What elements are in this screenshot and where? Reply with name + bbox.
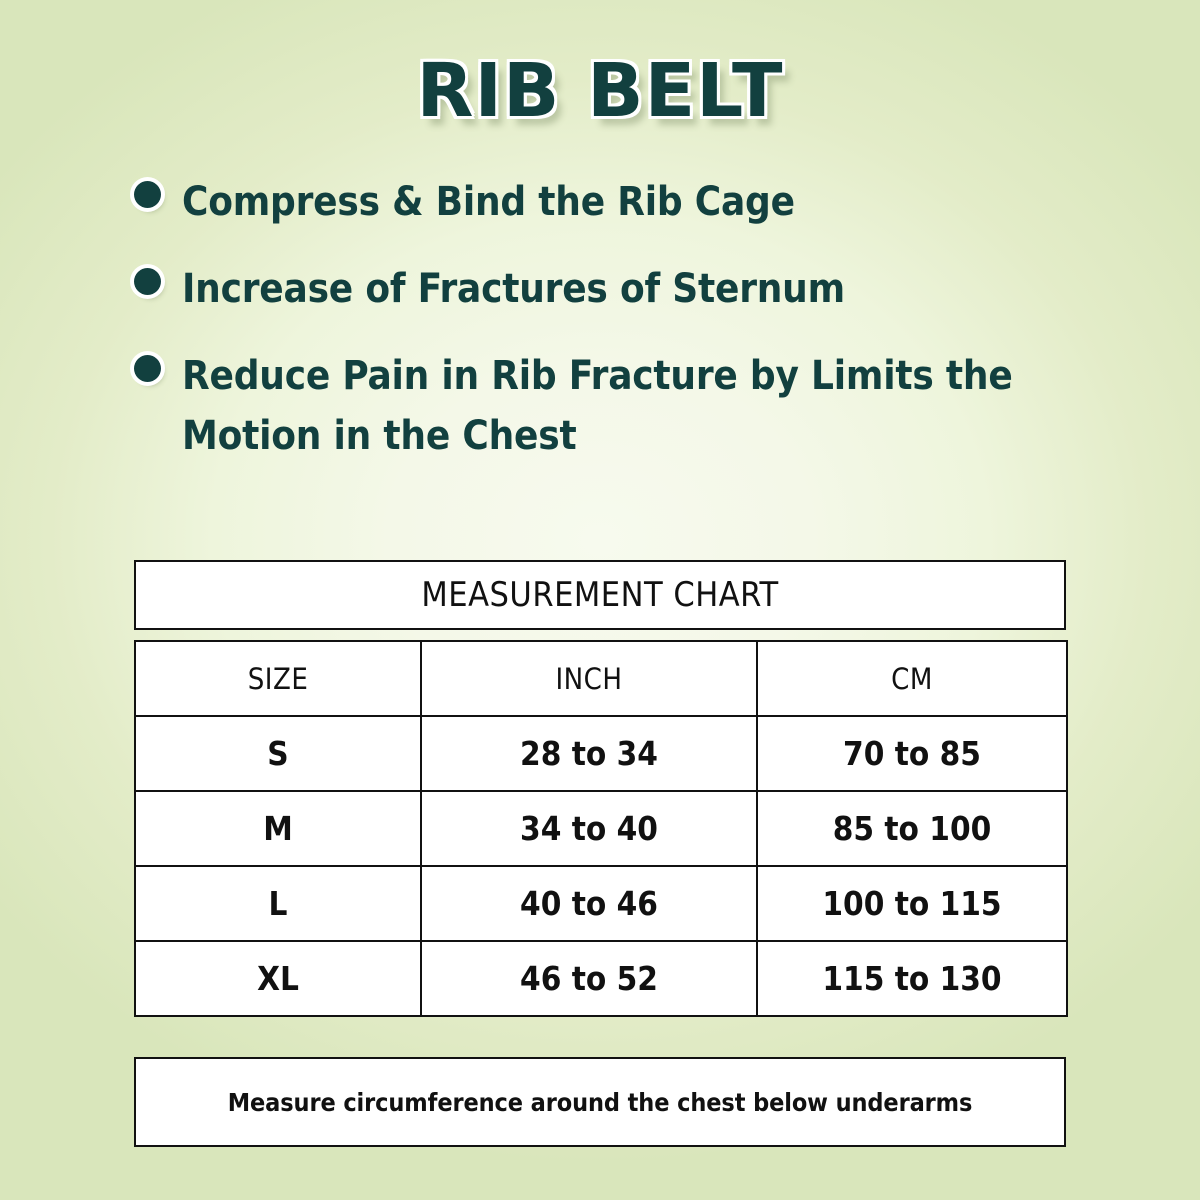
table-row: M 34 to 40 85 to 100 [135, 791, 1067, 866]
table-row: L 40 to 46 100 to 115 [135, 866, 1067, 941]
circle-bullet-icon [134, 268, 161, 295]
list-item: Compress & Bind the Rib Cage [134, 172, 1034, 233]
feature-text: Increase of Fractures of Sternum [182, 259, 845, 320]
measurement-note-text: Measure circumference around the chest b… [228, 1088, 973, 1117]
cell-size: S [135, 716, 421, 791]
table-row: S 28 to 34 70 to 85 [135, 716, 1067, 791]
product-info-card: RIB BELT Compress & Bind the Rib Cage In… [0, 0, 1200, 1200]
cell-size: M [135, 791, 421, 866]
feature-text: Reduce Pain in Rib Fracture by Limits th… [182, 346, 1034, 468]
cell-size: XL [135, 941, 421, 1016]
measurement-table: SIZE INCH CM S 28 to 34 70 to 85 M 34 to… [134, 640, 1068, 1017]
cell-inch: 40 to 46 [421, 866, 757, 941]
circle-bullet-icon [134, 181, 161, 208]
cell-cm: 85 to 100 [757, 791, 1067, 866]
cell-size: L [135, 866, 421, 941]
feature-text: Compress & Bind the Rib Cage [182, 172, 795, 233]
measurement-chart-title: MEASUREMENT CHART [421, 575, 778, 615]
feature-list: Compress & Bind the Rib Cage Increase of… [134, 172, 1034, 493]
cell-cm: 115 to 130 [757, 941, 1067, 1016]
table-header-row: SIZE INCH CM [135, 641, 1067, 716]
cell-inch: 34 to 40 [421, 791, 757, 866]
list-item: Reduce Pain in Rib Fracture by Limits th… [134, 346, 1034, 468]
cell-inch: 46 to 52 [421, 941, 757, 1016]
measurement-note-box: Measure circumference around the chest b… [134, 1057, 1066, 1147]
list-item: Increase of Fractures of Sternum [134, 259, 1034, 320]
page-title: RIB BELT [0, 48, 1200, 134]
measurement-chart-header: MEASUREMENT CHART [134, 560, 1066, 630]
cell-cm: 70 to 85 [757, 716, 1067, 791]
column-header-inch: INCH [421, 641, 757, 716]
cell-inch: 28 to 34 [421, 716, 757, 791]
circle-bullet-icon [134, 355, 161, 382]
column-header-size: SIZE [135, 641, 421, 716]
column-header-cm: CM [757, 641, 1067, 716]
table-row: XL 46 to 52 115 to 130 [135, 941, 1067, 1016]
cell-cm: 100 to 115 [757, 866, 1067, 941]
